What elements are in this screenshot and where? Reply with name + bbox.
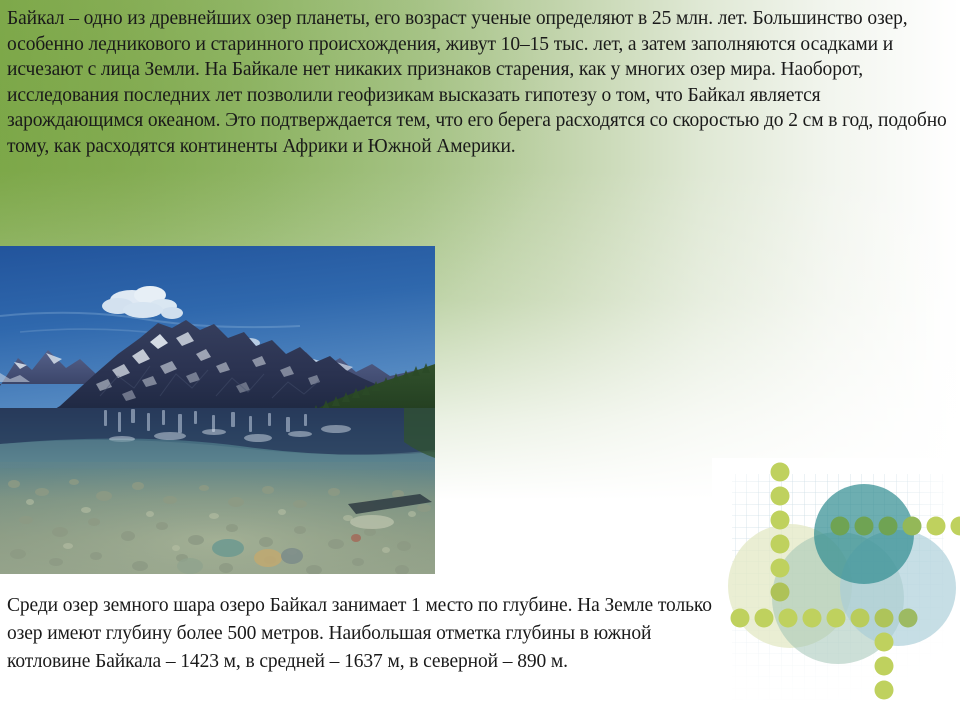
intro-paragraph: Байкал – одно из древнейших озер планеты… <box>7 6 953 160</box>
bottom-paragraph: Среди озер земного шара озеро Байкал зан… <box>7 592 727 676</box>
slide-canvas: Байкал – одно из древнейших озер планеты… <box>0 0 960 720</box>
dot-chain-vertical-right <box>875 633 894 700</box>
lake-baikal-photo <box>0 246 435 574</box>
photo-illustration <box>0 246 435 574</box>
decorative-graphic <box>712 458 960 706</box>
decoration-illustration <box>712 458 960 706</box>
